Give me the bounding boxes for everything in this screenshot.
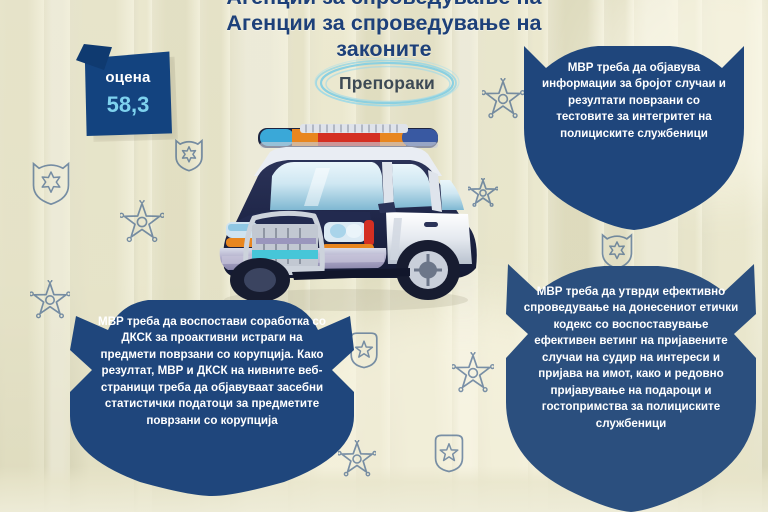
police-shield-star-badge-icon (28, 160, 74, 206)
page-title-line-1: Агенции за спроведување на (226, 11, 541, 35)
score-label: оцена (105, 69, 150, 86)
recommendations-pill-label: Препораки (313, 58, 461, 108)
recommendation-shield-1: МВР треба да објавува информации за број… (506, 40, 762, 230)
rounded-shield-star-badge-icon (428, 432, 470, 474)
recommendation-shield-1-text: МВР треба да објавува информации за број… (506, 60, 762, 142)
recommendation-shield-3: МВР треба да воспостави соработка со ДКС… (64, 290, 360, 496)
score-value: 58,3 (107, 92, 150, 118)
infographic-canvas: Агенции за спроведување на Агенции за сп… (0, 0, 768, 512)
recommendation-shield-2-text: МВР треба да утврди ефективно спроведува… (494, 284, 768, 432)
page-title-clipped-line: Агенции за спроведување на (0, 0, 768, 10)
recommendations-pill: Препораки (313, 58, 461, 108)
sheriff-star-badge-icon (120, 200, 164, 244)
recommendation-shield-3-text: МВР треба да воспостави соработка со ДКС… (64, 314, 360, 429)
recommendation-shield-2: МВР треба да утврди ефективно спроведува… (494, 262, 768, 512)
score-badge: оцена 58,3 (84, 48, 172, 136)
police-suv-illustration (196, 118, 486, 314)
background-column (0, 0, 44, 512)
sheriff-star-badge-icon (452, 352, 494, 394)
